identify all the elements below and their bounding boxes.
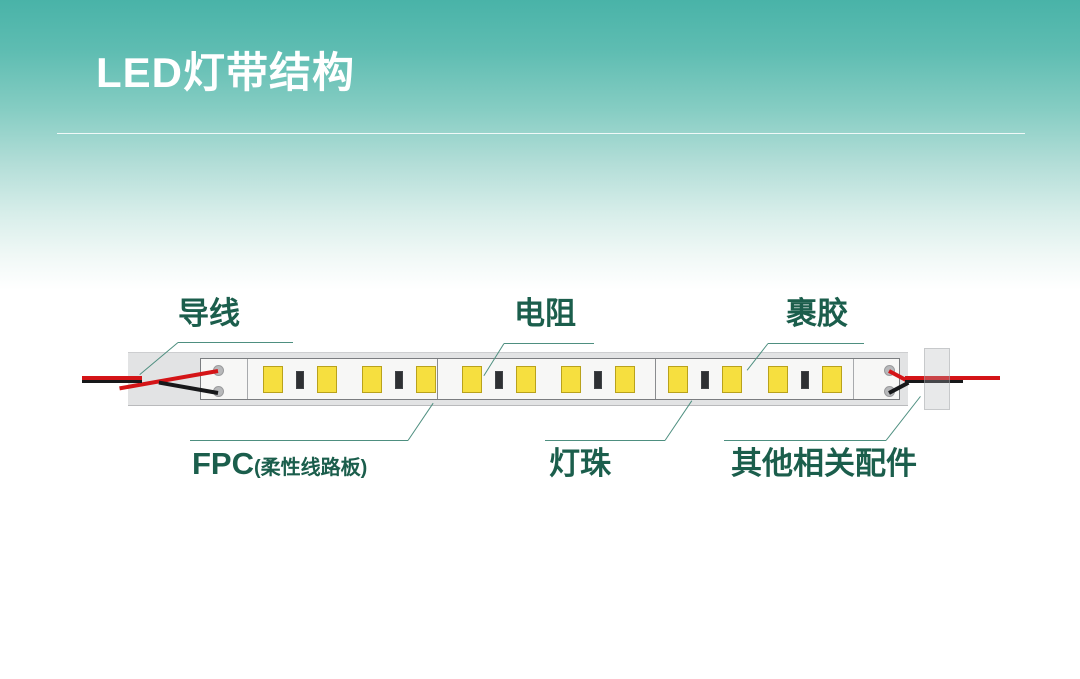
led-bead	[263, 366, 283, 393]
led-bead	[416, 366, 436, 393]
callout-label-led-bead: 灯珠	[549, 448, 611, 479]
leader-line-wire-horizontal	[178, 342, 293, 343]
led-bead	[561, 366, 581, 393]
leader-line-fpc-horizontal	[190, 440, 408, 441]
callout-label-glue: 裹胶	[786, 298, 848, 329]
leader-line-accessories-horizontal	[724, 440, 886, 441]
led-bead	[317, 366, 337, 393]
callout-label-accessories: 其他相关配件	[731, 448, 917, 479]
end-cap-accessory	[924, 348, 950, 410]
resistor	[495, 371, 503, 389]
wire-black-left-tail	[82, 380, 142, 383]
fpc-board	[200, 358, 900, 400]
callout-label-wire: 导线	[178, 298, 240, 329]
led-bead	[822, 366, 842, 393]
led-bead	[615, 366, 635, 393]
leader-line-glue-horizontal	[768, 343, 864, 344]
pad-divider-left	[247, 359, 248, 399]
leader-line-led-bead-diagonal	[665, 400, 693, 440]
callout-label-resistor: 电阻	[514, 298, 576, 329]
slide-canvas: LED灯带结构	[0, 0, 1080, 679]
resistor	[296, 371, 304, 389]
led-bead	[668, 366, 688, 393]
callout-label-fpc: FPC(柔性线路板)	[192, 448, 367, 479]
segment-divider-2	[655, 359, 656, 399]
resistor	[701, 371, 709, 389]
resistor	[395, 371, 403, 389]
leader-line-led-bead-horizontal	[545, 440, 665, 441]
pad-divider-right	[853, 359, 854, 399]
led-bead	[722, 366, 742, 393]
led-bead	[362, 366, 382, 393]
leader-line-resistor-horizontal	[504, 343, 594, 344]
led-strip-diagram: 导线 电阻 裹胶 FPC(柔性线路板) 灯珠 其他相关配件	[0, 0, 1080, 679]
led-bead	[768, 366, 788, 393]
led-bead	[516, 366, 536, 393]
segment-divider-1	[437, 359, 438, 399]
led-bead	[462, 366, 482, 393]
resistor	[594, 371, 602, 389]
callout-label-fpc-main: FPC	[192, 446, 254, 481]
resistor	[801, 371, 809, 389]
leader-line-fpc-diagonal	[408, 403, 434, 441]
callout-label-fpc-sub: (柔性线路板)	[254, 457, 367, 479]
